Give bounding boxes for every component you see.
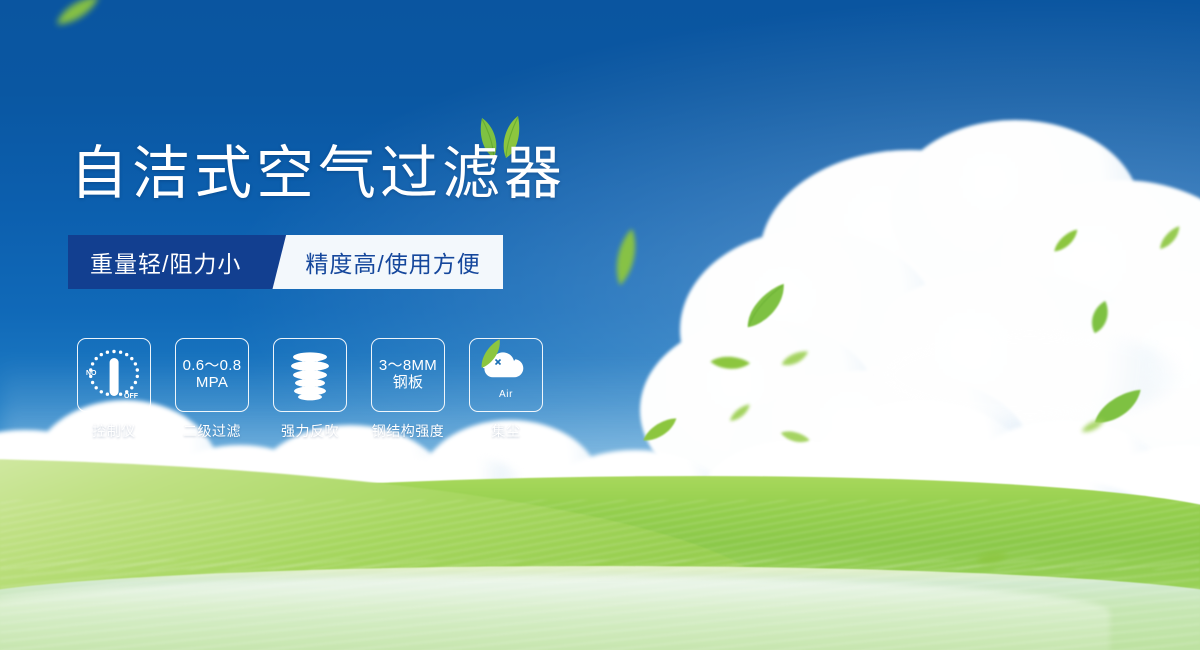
- pressure-value-line2: MPA: [196, 375, 228, 392]
- steel-value-line2: 钢板: [393, 375, 424, 392]
- feature-label: 强力反吹: [273, 421, 347, 441]
- cloud-air-icon: Air: [469, 338, 543, 412]
- page-title: 自洁式空气过滤器: [70, 145, 566, 203]
- feature-label: 二级过滤: [175, 421, 249, 441]
- subtitle-divider: [266, 235, 300, 289]
- pressure-text-icon: 0.6～0.8 MPA: [175, 338, 249, 412]
- grass-texture-near: [0, 560, 1200, 650]
- feature-label: 控制仪: [77, 421, 151, 441]
- steel-plate-text-icon: 3～8MM 钢板: [371, 338, 445, 412]
- pressure-value-line1: 0.6～0.8: [183, 358, 242, 375]
- feature-list: NO OFF 控制仪 0.6～0.8 MPA 二级过滤: [77, 338, 543, 441]
- feature-item-blowback[interactable]: 强力反吹: [273, 338, 347, 441]
- feature-item-dust[interactable]: Air 集尘: [469, 338, 543, 441]
- feature-item-controller[interactable]: NO OFF 控制仪: [77, 338, 151, 441]
- subtitle-bar: 重量轻/阻力小 精度高/使用方便: [68, 235, 503, 289]
- filter-cartridge-icon: [273, 338, 347, 412]
- air-label: Air: [499, 389, 513, 400]
- feature-item-steel[interactable]: 3～8MM 钢板 钢结构强度: [371, 338, 445, 441]
- subtitle-right: 精度高/使用方便: [299, 235, 502, 289]
- feature-label: 钢结构强度: [371, 421, 445, 441]
- steel-value-line1: 3～8MM: [379, 358, 437, 375]
- gauge-dial-icon: NO OFF: [77, 338, 151, 412]
- dial-off-label: OFF: [124, 393, 139, 400]
- dial-on-label: NO: [86, 370, 97, 377]
- banner-stage: 自洁式空气过滤器 重量轻/阻力小 精度高/使用方便: [0, 0, 1200, 650]
- subtitle-left: 重量轻/阻力小: [68, 235, 267, 289]
- feature-item-filtration[interactable]: 0.6～0.8 MPA 二级过滤: [175, 338, 249, 441]
- feature-label: 集尘: [469, 421, 543, 441]
